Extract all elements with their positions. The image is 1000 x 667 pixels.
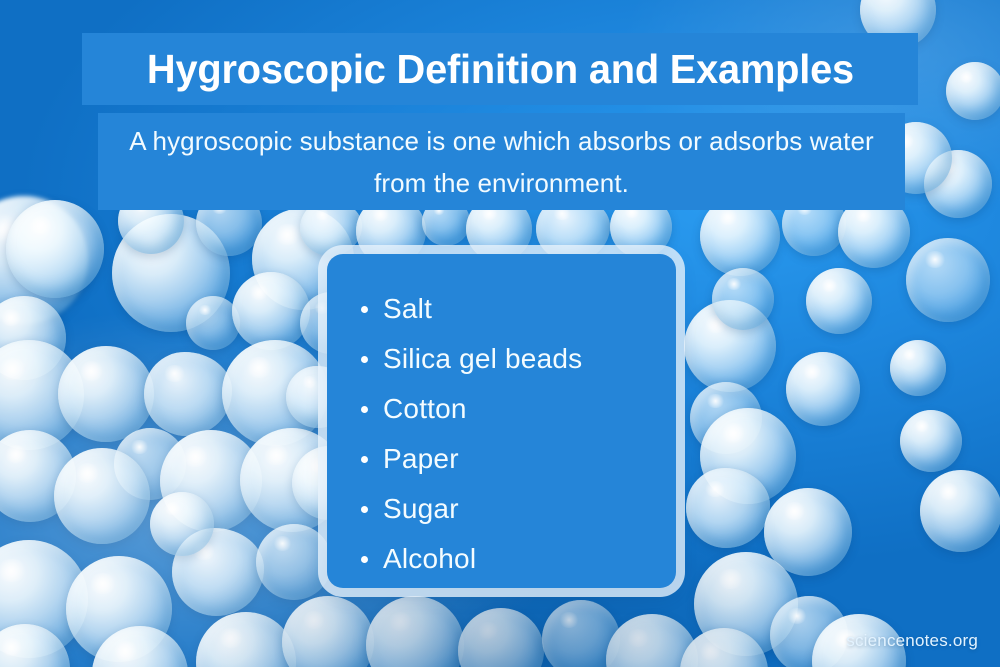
examples-list: Salt Silica gel beads Cotton Paper Sugar…: [327, 254, 676, 584]
bead: [150, 492, 214, 556]
bead: [196, 612, 296, 667]
bead: [58, 346, 154, 442]
bead: [6, 200, 104, 298]
poster: Hygroscopic Definition and Examples A hy…: [0, 0, 1000, 667]
list-item: Silica gel beads: [383, 334, 676, 384]
examples-card: Salt Silica gel beads Cotton Paper Sugar…: [327, 254, 676, 588]
list-item-label: Sugar: [383, 493, 459, 524]
bead: [232, 272, 310, 350]
bullet-icon: [361, 506, 368, 513]
list-item: Paper: [383, 434, 676, 484]
bead: [686, 468, 770, 548]
list-item-label: Alcohol: [383, 543, 476, 574]
bead: [946, 62, 1000, 120]
list-item-label: Paper: [383, 443, 459, 474]
bullet-icon: [361, 356, 368, 363]
bead: [900, 410, 962, 472]
watermark: sciencenotes.org: [846, 631, 978, 651]
page-title: Hygroscopic Definition and Examples: [146, 46, 853, 93]
bead: [786, 352, 860, 426]
list-item-label: Cotton: [383, 393, 467, 424]
bead: [256, 524, 332, 600]
bullet-icon: [361, 306, 368, 313]
bead: [144, 352, 232, 436]
bead: [282, 596, 374, 667]
bullet-icon: [361, 556, 368, 563]
subtitle-band: A hygroscopic substance is one which abs…: [98, 113, 905, 210]
bead: [806, 268, 872, 334]
bullet-icon: [361, 406, 368, 413]
bead: [366, 596, 464, 667]
list-item-label: Salt: [383, 293, 432, 324]
bead: [458, 608, 544, 667]
bead: [906, 238, 990, 322]
list-item: Sugar: [383, 484, 676, 534]
bead: [890, 340, 946, 396]
title-band: Hygroscopic Definition and Examples: [82, 33, 918, 105]
list-item: Alcohol: [383, 534, 676, 584]
bead: [920, 470, 1000, 552]
page-subtitle: A hygroscopic substance is one which abs…: [107, 120, 897, 204]
bead: [712, 268, 774, 330]
list-item: Cotton: [383, 384, 676, 434]
list-item: Salt: [383, 284, 676, 334]
list-item-label: Silica gel beads: [383, 343, 582, 374]
bullet-icon: [361, 456, 368, 463]
bead: [54, 448, 150, 544]
